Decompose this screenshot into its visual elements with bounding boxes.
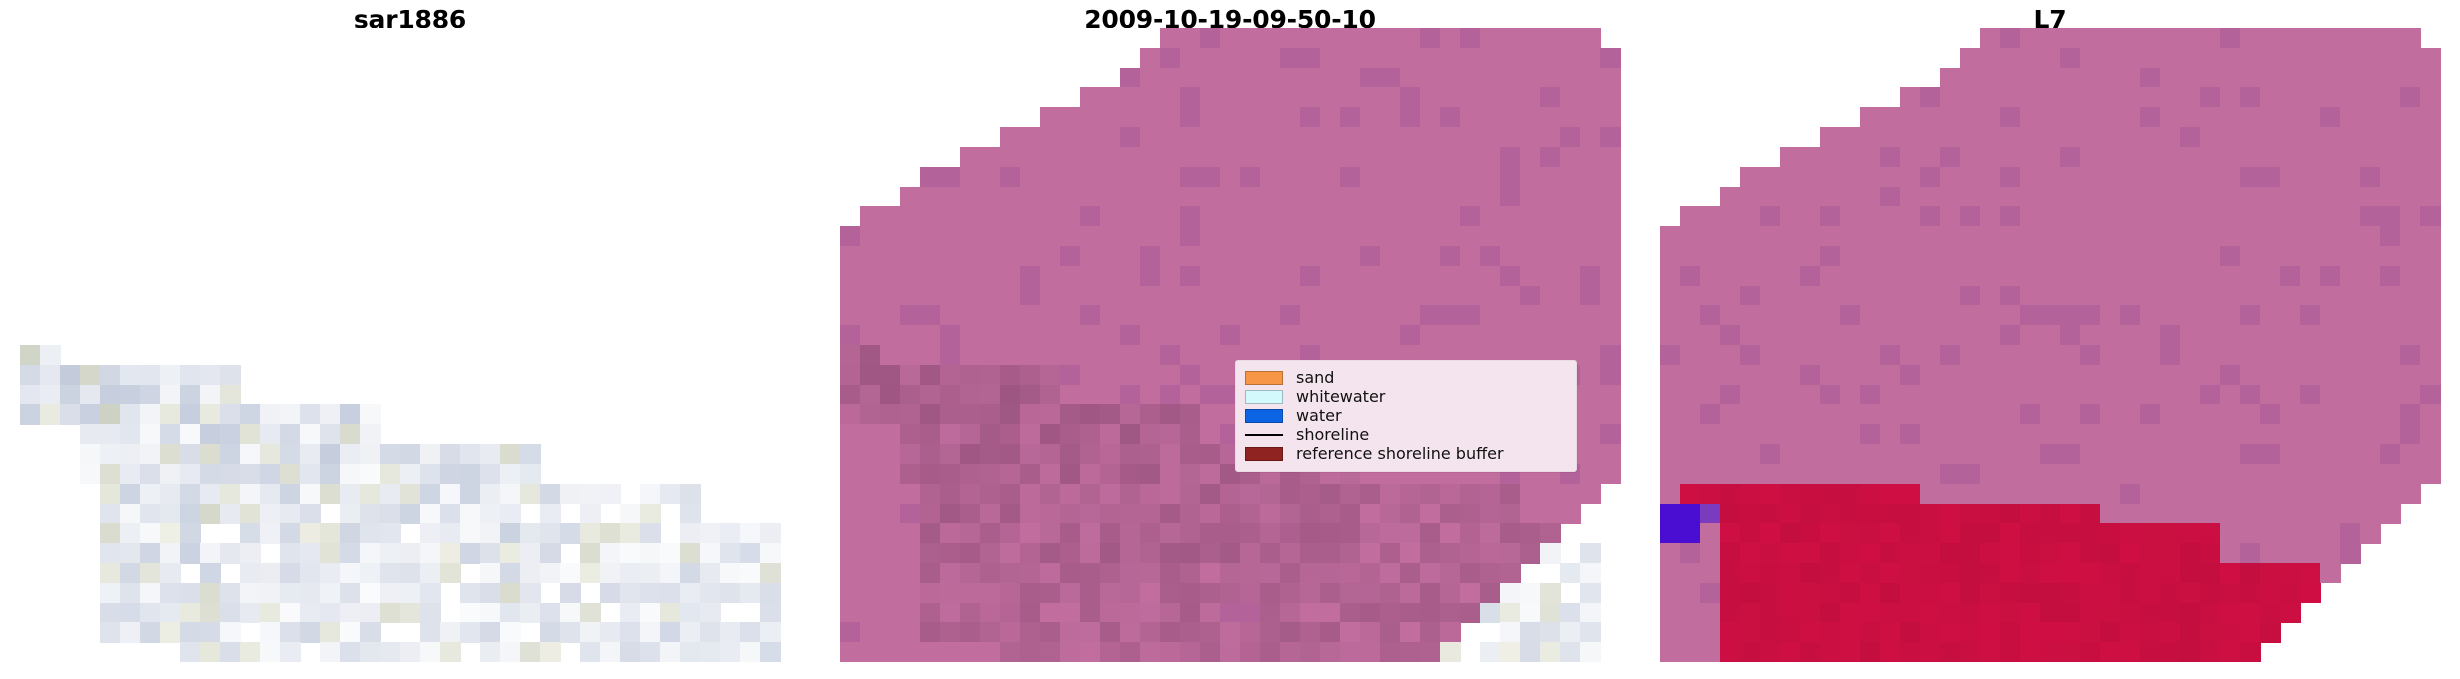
- legend-swatch-water-icon: [1245, 409, 1283, 423]
- panel-classification: 2009-10-19-09-50-10 sand whitewater wate…: [820, 0, 1640, 679]
- figure-canvas: sar1886 2009-10-19-09-50-10 sand whitewa…: [0, 0, 2460, 679]
- legend-swatch-sand-icon: [1245, 371, 1283, 385]
- axes-sar1886: [0, 28, 820, 662]
- legend-box: sand whitewater water shoreline referenc…: [1235, 360, 1577, 472]
- legend-item-shoreline: shoreline: [1245, 425, 1567, 444]
- l7-raster-image: [1640, 28, 2460, 662]
- legend-swatch-whitewater-icon: [1245, 390, 1283, 404]
- legend-swatch-shoreline-icon: [1245, 428, 1283, 442]
- axes-l7: [1640, 28, 2460, 662]
- legend-item-water: water: [1245, 406, 1567, 425]
- legend-label-sand: sand: [1296, 368, 1334, 387]
- legend-label-water: water: [1296, 406, 1342, 425]
- legend-swatch-reference-shoreline-buffer-icon: [1245, 447, 1283, 461]
- sar-raster-image: [0, 28, 820, 662]
- legend-item-reference-shoreline-buffer: reference shoreline buffer: [1245, 444, 1567, 463]
- legend-label-shoreline: shoreline: [1296, 425, 1369, 444]
- legend-label-reference-shoreline-buffer: reference shoreline buffer: [1296, 444, 1504, 463]
- classification-raster-image: [820, 28, 1640, 662]
- legend-item-sand: sand: [1245, 368, 1567, 387]
- panel-sar1886: sar1886: [0, 0, 820, 679]
- legend-label-whitewater: whitewater: [1296, 387, 1385, 406]
- axes-classification: sand whitewater water shoreline referenc…: [820, 28, 1640, 662]
- panel-l7: L7: [1640, 0, 2460, 679]
- legend-item-whitewater: whitewater: [1245, 387, 1567, 406]
